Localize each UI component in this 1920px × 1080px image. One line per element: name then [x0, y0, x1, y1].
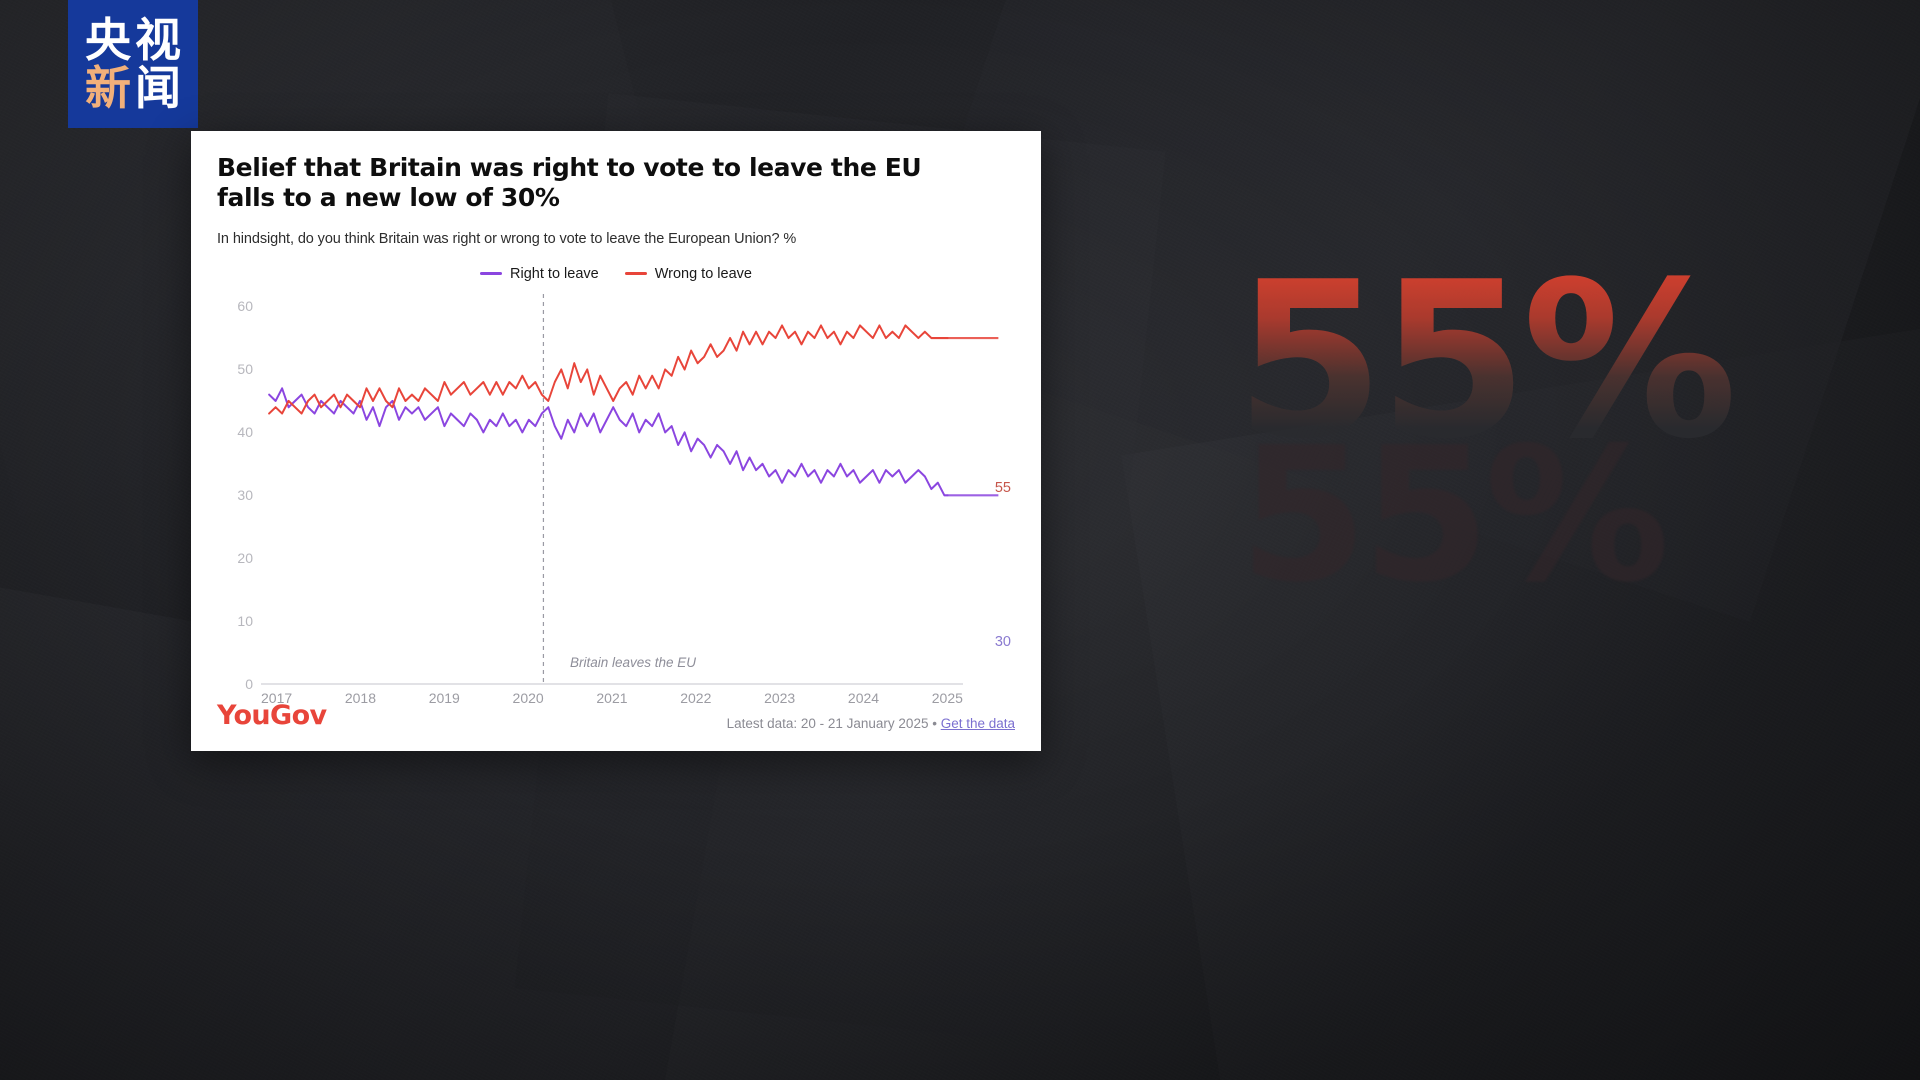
logo-char-xin: 新	[85, 65, 131, 111]
y-axis-tick-50: 50	[217, 361, 253, 377]
chart-legend: Right to leave Wrong to leave	[217, 266, 1015, 282]
plot-area: 0102030405060 Britain leaves the EU 55 3…	[217, 294, 1015, 684]
yougov-logo: YouGov	[217, 700, 327, 731]
legend-item-right-to-leave[interactable]: Right to leave	[480, 266, 599, 282]
y-axis-tick-30: 30	[217, 487, 253, 503]
plot-canvas	[261, 294, 963, 684]
end-label-wrong-to-leave: 55	[995, 480, 1011, 496]
legend-label-right-to-leave: Right to leave	[510, 266, 599, 282]
y-axis-tick-40: 40	[217, 424, 253, 440]
get-the-data-link[interactable]: Get the data	[941, 716, 1015, 731]
logo-char-wen: 闻	[135, 65, 181, 111]
y-axis-tick-0: 0	[217, 676, 253, 692]
logo-char-shi: 视	[135, 17, 181, 63]
legend-item-wrong-to-leave[interactable]: Wrong to leave	[625, 266, 752, 282]
logo-row-bottom: 新 闻	[85, 65, 181, 111]
chart-title: Belief that Britain was right to vote to…	[217, 153, 977, 214]
line-chart-svg	[261, 294, 963, 684]
y-axis-tick-20: 20	[217, 550, 253, 566]
legend-label-wrong-to-leave: Wrong to leave	[655, 266, 752, 282]
logo-row-top: 央 视	[85, 17, 181, 63]
chart-subtitle: In hindsight, do you think Britain was r…	[217, 231, 1015, 247]
series-line-wrong-to-leave	[269, 325, 947, 413]
cctv-news-logo: 央 视 新 闻	[68, 0, 198, 128]
end-label-right-to-leave: 30	[995, 634, 1011, 650]
y-axis-tick-60: 60	[217, 298, 253, 314]
ghost-percentage-overlay: 55% 55%	[1235, 262, 1875, 460]
footer-metadata: Latest data: 20 - 21 January 2025 • Get …	[727, 716, 1015, 731]
logo-char-yang: 央	[85, 17, 131, 63]
series-line-right-to-leave	[269, 388, 947, 495]
y-axis-labels: 0102030405060	[217, 294, 253, 684]
y-axis-tick-10: 10	[217, 613, 253, 629]
chart-footer: YouGov Latest data: 20 - 21 January 2025…	[217, 700, 1015, 731]
latest-data-text: Latest data: 20 - 21 January 2025 •	[727, 716, 941, 731]
ghost-percentage-reflection: 55%	[1239, 430, 1664, 600]
event-annotation-label: Britain leaves the EU	[570, 655, 696, 670]
legend-swatch-red	[625, 272, 647, 275]
legend-swatch-purple	[480, 272, 502, 275]
screenshot-stage: 55% 55% 央 视 新 闻 YouGov Latest data: 20 -…	[0, 0, 1920, 1080]
chart-card: Belief that Britain was right to vote to…	[191, 131, 1041, 751]
